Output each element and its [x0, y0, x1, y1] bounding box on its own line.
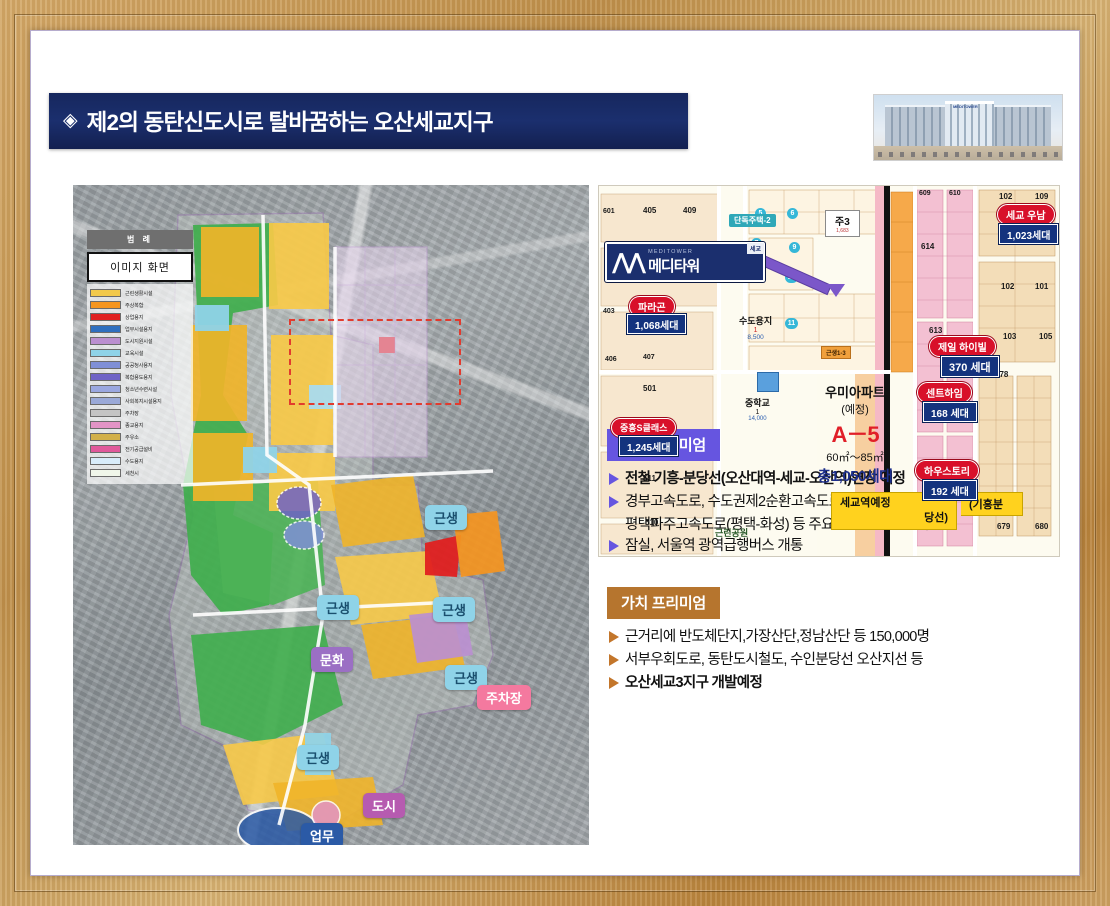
station-line2: 당선) — [840, 511, 948, 526]
legend-item: 수도용지 — [90, 455, 190, 467]
legend-item: 도시지원시설 — [90, 335, 190, 347]
value-bullet-1-text: 근거리에 반도체단지,가장산단,정남산단 등 150,000명 — [625, 627, 929, 648]
legend-swatch — [90, 373, 121, 381]
legend-screen-label: 이미지 화면 — [87, 252, 193, 282]
feature-block-code: A－5 — [795, 417, 915, 449]
triangle-bullet-icon — [609, 496, 619, 508]
complex-centheim-name[interactable]: 센트하임 — [917, 382, 972, 403]
legend-item-label: 사회복지시설용지 — [125, 398, 162, 405]
meditower-kr-label: 메디타워 — [648, 258, 699, 275]
meditower-banner[interactable]: ⋀⋀ MEDITOWER 메디타워 세교 — [605, 242, 765, 282]
legend-item: 교육시설 — [90, 347, 190, 359]
legend-swatch — [90, 301, 121, 309]
legend-item: 주유소 — [90, 431, 190, 443]
block-number-103: 103 — [1003, 332, 1016, 341]
complex-senggyo-unam-units: 1,023세대 — [999, 224, 1058, 244]
legend-item-label: 주상복합 — [125, 302, 143, 309]
value-bullet-3-text: 오산세교3지구 개발예정 — [625, 673, 762, 694]
block-number-407: 407 — [643, 354, 655, 361]
meditower-logo-icon: ⋀⋀ — [612, 253, 643, 271]
block-number-102-top: 102 — [999, 192, 1012, 201]
complex-jeil-highvill-name[interactable]: 제일 하이빌 — [929, 336, 996, 357]
waterworks-area: 8,500 — [739, 334, 772, 341]
block-number-406: 406 — [605, 356, 617, 363]
triangle-bullet-icon — [609, 540, 619, 552]
block-number-609: 609 — [919, 190, 931, 197]
page-title: 제2의 동탄신도시로 탈바꿈하는 오산세교지구 — [87, 105, 493, 137]
waterworks-label-group: 수도용지 1 8,500 — [739, 314, 772, 341]
block-ju3-area: 1,683 — [835, 228, 850, 234]
map-legend: 범 례 이미지 화면 근린생활시설주상복합상업용지업무시설용지도시지원시설교육시… — [87, 230, 193, 484]
waterworks-sub: 1 — [739, 327, 772, 334]
meditower-badge: 세교 — [747, 243, 764, 254]
legend-item-label: 근린생활시설 — [125, 290, 152, 297]
block-number-109: 109 — [1035, 192, 1048, 201]
legend-swatch — [90, 337, 121, 345]
legend-item-label: 전기공급설비 — [125, 446, 152, 453]
legend-item: 공공청사용지 — [90, 359, 190, 371]
block-number-613: 613 — [929, 326, 942, 335]
block-number-101: 101 — [1035, 282, 1048, 291]
block-number-614: 614 — [921, 242, 934, 251]
block-number-403: 403 — [603, 308, 615, 315]
legend-item: 근린생활시설 — [90, 287, 190, 299]
school-name: 중학교 — [745, 396, 770, 409]
feature-units: 총1,050세대 — [795, 465, 915, 486]
legend-item: 주상복합 — [90, 299, 190, 311]
triangle-bullet-icon — [609, 473, 619, 485]
legend-item-label: 공공청사용지 — [125, 362, 152, 369]
legend-item-label: 상업용지 — [125, 314, 143, 321]
block-number-409: 409 — [683, 206, 696, 215]
school-building-icon — [757, 372, 779, 392]
block-number-501: 501 — [643, 384, 656, 393]
block-number-610: 610 — [949, 190, 961, 197]
callout-geunsaeng-2[interactable]: 근생 — [317, 595, 359, 620]
legend-swatch — [90, 361, 121, 369]
feature-apartment-block[interactable]: 우미아파트 (예정) A－5 60㎡～85㎡ 총1,050세대 — [795, 382, 915, 486]
feature-size: 60㎡～85㎡ — [795, 449, 915, 465]
diamond-icon: ◈ — [63, 111, 78, 130]
legend-item: 업무시설용지 — [90, 323, 190, 335]
complex-senggyo-unam-name[interactable]: 세교 우남 — [997, 204, 1055, 225]
legend-swatch — [90, 349, 121, 357]
legend-items: 근린생활시설주상복합상업용지업무시설용지도시지원시설교육시설공공청사용지복합용도… — [87, 284, 193, 484]
legend-swatch — [90, 469, 121, 477]
callout-culture[interactable]: 문화 — [311, 647, 353, 672]
park-label: 근린공원 — [715, 526, 748, 539]
complex-centheim-units: 168 세대 — [923, 402, 977, 422]
legend-swatch — [90, 445, 121, 453]
triangle-bullet-icon — [609, 677, 619, 689]
legend-item: 복합용도용지 — [90, 371, 190, 383]
complex-jungheung-name[interactable]: 중흥S클래스 — [611, 418, 676, 437]
block-number-102: 102 — [1001, 282, 1014, 291]
callout-geunsaeng-3[interactable]: 근생 — [433, 597, 475, 622]
building-photo: MEDITOWER — [873, 94, 1063, 161]
value-bullet-2: 서부우회도로, 동탄도시철도, 수인분당선 오산지선 등 — [607, 650, 1047, 671]
legend-swatch — [90, 397, 121, 405]
block-number-105: 105 — [1039, 332, 1052, 341]
callout-parking[interactable]: 주차장 — [477, 685, 531, 710]
callout-geunsaeng-5[interactable]: 근생 — [297, 745, 339, 770]
circle-number-11: 11 — [785, 318, 798, 329]
legend-swatch — [90, 409, 121, 417]
legend-swatch — [90, 289, 121, 297]
legend-item-label: 청소년수련시설 — [125, 386, 157, 393]
legend-swatch — [90, 433, 121, 441]
legend-item-label: 주차장 — [125, 410, 139, 417]
complex-jungheung-units: 1,245세대 — [619, 436, 678, 456]
transport-bullet-3: 잠실, 서울역 광역급행버스 개통 — [607, 536, 1047, 557]
meditower-en-label: MEDITOWER — [648, 249, 699, 255]
legend-item: 전기공급설비 — [90, 443, 190, 455]
school-sub: 1 — [745, 409, 770, 416]
triangle-bullet-icon — [609, 631, 619, 643]
block-ju3: 주3 1,683 — [825, 210, 860, 237]
photo-signage: MEDITOWER — [953, 104, 978, 109]
complex-housestory-units: 192 세대 — [923, 480, 977, 500]
land-use-map[interactable]: 범 례 이미지 화면 근린생활시설주상복합상업용지업무시설용지도시지원시설교육시… — [73, 185, 589, 845]
legend-item: 상업용지 — [90, 311, 190, 323]
feature-status: (예정) — [795, 401, 915, 417]
highlight-area-box — [289, 319, 461, 405]
school-area: 14,000 — [745, 416, 770, 422]
photo-cars — [878, 152, 1058, 157]
complex-paragon-units: 1,068세대 — [627, 314, 686, 334]
legend-item-label: 업무시설용지 — [125, 326, 152, 333]
legend-item: 세천시 — [90, 467, 190, 479]
value-bullets: 근거리에 반도체단지,가장산단,정남산단 등 150,000명 서부우회도로, … — [607, 627, 1047, 694]
waterworks-name: 수도용지 — [739, 314, 772, 327]
legend-item: 종교용지 — [90, 419, 190, 431]
callout-geunsaeng-1[interactable]: 근생 — [425, 505, 467, 530]
legend-item-label: 세천시 — [125, 470, 139, 477]
value-bullet-2-text: 서부우회도로, 동탄도시철도, 수인분당선 오산지선 등 — [625, 650, 923, 671]
callout-city[interactable]: 도시 — [363, 793, 405, 818]
circle-number-9: 9 — [789, 242, 800, 253]
block-ju3-label: 주3 — [835, 213, 850, 228]
value-bullet-3: 오산세교3지구 개발예정 — [607, 673, 1047, 694]
legend-item: 사회복지시설용지 — [90, 395, 190, 407]
transport-bullet-3-text: 잠실, 서울역 광역급행버스 개통 — [625, 536, 803, 557]
legend-item-label: 수도용지 — [125, 458, 143, 465]
school-label-group: 중학교 1 14,000 — [745, 396, 770, 422]
label-geunsaeng-1-3: 근생1-3 — [821, 346, 851, 359]
value-bullet-1: 근거리에 반도체단지,가장산단,정남산단 등 150,000명 — [607, 627, 1047, 648]
legend-item-label: 주유소 — [125, 434, 139, 441]
legend-item-label: 교육시설 — [125, 350, 143, 357]
station-line1: 세교역예정 — [840, 497, 891, 509]
triangle-bullet-icon — [609, 654, 619, 666]
complex-jeil-highvill-units: 370 세대 — [941, 356, 999, 377]
legend-swatch — [90, 457, 121, 465]
slide-canvas: ◈ 제2의 동탄신도시로 탈바꿈하는 오산세교지구 MEDITOWER — [30, 30, 1080, 876]
block-number-601: 601 — [603, 208, 615, 215]
legend-swatch — [90, 385, 121, 393]
value-premium-section: 가치 프리미엄 근거리에 반도체단지,가장산단,정남산단 등 150,000명 … — [607, 587, 1047, 696]
complex-housestory-name[interactable]: 하우스토리 — [915, 460, 979, 481]
legend-item: 청소년수련시설 — [90, 383, 190, 395]
legend-title: 범 례 — [87, 230, 193, 249]
legend-swatch — [90, 421, 121, 429]
value-premium-badge: 가치 프리미엄 — [607, 587, 720, 619]
label-single-house-2: 단독주택-2 — [729, 214, 776, 227]
callout-business[interactable]: 업무 — [301, 823, 343, 845]
page-title-bar: ◈ 제2의 동탄신도시로 탈바꿈하는 오산세교지구 — [49, 93, 688, 149]
feature-name: 우미아파트 — [795, 382, 915, 401]
legend-item: 주차장 — [90, 407, 190, 419]
legend-item-label: 종교용지 — [125, 422, 143, 429]
circle-number-6: 6 — [787, 208, 798, 219]
legend-swatch — [90, 313, 121, 321]
legend-item-label: 복합용도용지 — [125, 374, 152, 381]
legend-swatch — [90, 325, 121, 333]
block-number-405: 405 — [643, 206, 656, 215]
legend-item-label: 도시지원시설 — [125, 338, 152, 345]
arrow-head-icon — [827, 284, 845, 297]
